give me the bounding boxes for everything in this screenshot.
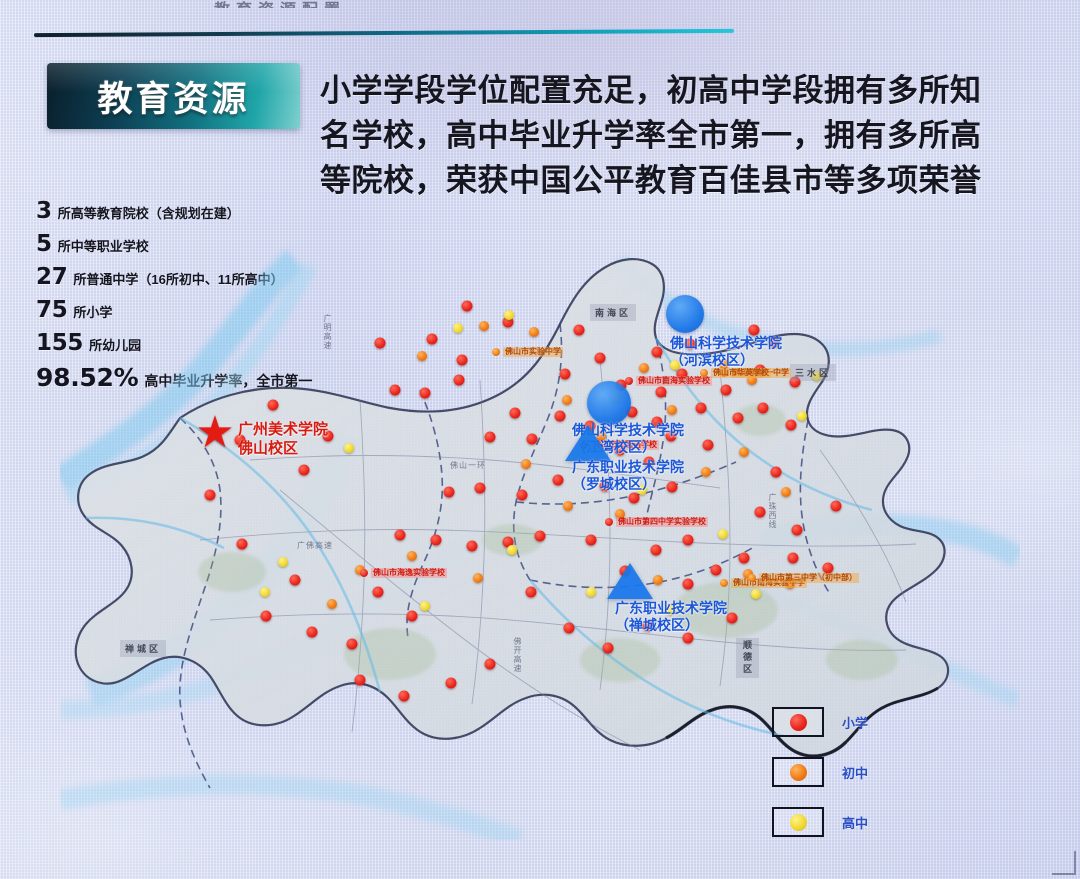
primary-school-dot [237, 539, 248, 550]
junior-school-dot [667, 405, 677, 415]
primary-school-dot [652, 347, 663, 358]
senior-school-dot [751, 589, 761, 599]
senior-school-dot [718, 529, 728, 539]
corner-mark [1052, 851, 1076, 875]
junior-school-dot [529, 327, 539, 337]
university-label: 广东职业技术学院（禅城校区） [615, 600, 727, 634]
primary-school-dot [771, 467, 782, 478]
primary-school-dot [564, 623, 575, 634]
legend-label: 小学 [842, 713, 868, 732]
senior-school-dot [278, 557, 288, 567]
junior-school-dot [479, 321, 489, 331]
school-name-label: 佛山市实验中学 [492, 347, 563, 357]
primary-school-dot [485, 659, 496, 670]
senior-school-dot [507, 545, 517, 555]
road-label: 广珠西线 [767, 493, 778, 529]
primary-school-dot [560, 369, 571, 380]
university-label-line: 佛山科学技术学院 [670, 335, 782, 352]
stat-number: 3 [36, 198, 52, 224]
primary-school-dot [444, 487, 455, 498]
district-name-plate: 南海区 [590, 304, 636, 321]
university-label: 广州美术学院佛山校区 [238, 420, 328, 458]
district-name-plate: 顺德区 [736, 638, 759, 678]
primary-school-dot [427, 334, 438, 345]
primary-school-dot [261, 611, 272, 622]
school-label-text: 佛山市第四中学实验学校 [616, 517, 708, 527]
junior-school-dot [521, 459, 531, 469]
primary-school-dot [307, 627, 318, 638]
university-label-line: 广东职业技术学院 [615, 600, 727, 617]
top-cropped-text: 教育资源配置 [214, 0, 514, 8]
junior-school-dot [701, 467, 711, 477]
university-label: 广东职业技术学院（罗城校区） [572, 459, 684, 493]
legend-swatch-box [772, 807, 824, 837]
senior-school-dot [453, 323, 463, 333]
primary-school-dot [526, 587, 537, 598]
junior-school-dot [473, 573, 483, 583]
junior-school-dot [639, 363, 649, 373]
primary-school-dot [454, 375, 465, 386]
primary-school-dot [696, 403, 707, 414]
stat-unit: 所高等教育院校（含规划在建） [58, 203, 240, 222]
primary-school-dot [823, 563, 834, 574]
primary-school-dot [205, 490, 216, 501]
junior-school-dot [417, 351, 427, 361]
primary-school-dot [656, 387, 667, 398]
legend-label: 高中 [842, 813, 868, 832]
primary-school-dot [373, 587, 384, 598]
headline-line-1: 小学学段学位配置充足，初高中学段拥有多所知 [320, 68, 1062, 113]
university-triangle-marker [607, 563, 653, 599]
legend-swatch-box [772, 707, 824, 737]
primary-school-dot [457, 355, 468, 366]
stat-number: 5 [36, 231, 52, 257]
school-label-text: 佛山市第三中学（初中部） [759, 573, 859, 583]
junior-school-dot [407, 551, 417, 561]
primary-school-dot [299, 465, 310, 476]
primary-school-dot [574, 325, 585, 336]
district-name-plate: 三水区 [790, 364, 836, 381]
badge-shine [47, 63, 300, 92]
university-circle-marker [587, 381, 631, 425]
primary-school-dot [510, 408, 521, 419]
university-label-line: 广州美术学院 [238, 420, 328, 439]
university-triangle-marker [565, 425, 611, 461]
university-label-line: （河滨校区） [670, 352, 782, 369]
primary-school-dot [792, 525, 803, 536]
school-label-dot [492, 348, 500, 356]
legend-row: 初中 [772, 757, 947, 787]
legend-swatch-box [772, 757, 824, 787]
stat-row: 3所高等教育院校（含规划在建） [36, 198, 376, 224]
legend-row: 小学 [772, 707, 947, 737]
primary-school-dot [758, 403, 769, 414]
primary-school-dot [485, 432, 496, 443]
primary-school-dot [555, 411, 566, 422]
university-label-line: （罗城校区） [572, 476, 684, 493]
primary-school-dot [290, 575, 301, 586]
primary-school-dot [711, 565, 722, 576]
school-name-label: 佛山市南海实验学校 [625, 376, 712, 386]
senior-school-dot [504, 310, 514, 320]
legend-label: 初中 [842, 763, 868, 782]
school-name-label: 佛山市第三中学（初中部） [748, 573, 859, 583]
primary-school-dot [721, 385, 732, 396]
school-label-text: 佛山市华英学校 [711, 368, 771, 378]
primary-school-dot [462, 301, 473, 312]
road-label: 佛开高速 [512, 637, 523, 673]
school-name-label: 佛山市海逸实验学校 [360, 568, 447, 578]
junior-school-dot [781, 487, 791, 497]
primary-school-dot [629, 493, 640, 504]
senior-school-dot [790, 814, 807, 831]
headline: 小学学段学位配置充足，初高中学段拥有多所知 名学校，高中毕业升学率全市第一，拥有… [320, 68, 1062, 203]
university-label-line: 广东职业技术学院 [572, 459, 684, 476]
primary-school-dot [703, 440, 714, 451]
university-label: 佛山科学技术学院（河滨校区） [670, 335, 782, 369]
primary-school-dot [407, 611, 418, 622]
district-name-plate: 禅城区 [120, 640, 166, 657]
primary-school-dot [755, 507, 766, 518]
junior-school-dot [562, 395, 572, 405]
primary-school-dot [683, 535, 694, 546]
school-label-dot [720, 579, 728, 587]
primary-school-dot [786, 420, 797, 431]
primary-school-dot [390, 385, 401, 396]
junior-school-dot [327, 599, 337, 609]
map-legend: 小学初中高中 [772, 707, 947, 857]
primary-school-dot [595, 353, 606, 364]
senior-school-dot [797, 411, 807, 421]
university-circle-marker [666, 295, 704, 333]
headline-line-3: 等院校，荣获中国公平教育百佳县市等多项荣誉 [320, 158, 1062, 203]
primary-school-dot [268, 400, 279, 411]
primary-school-dot [446, 678, 457, 689]
school-label-text: 佛山市海逸实验学校 [371, 568, 447, 578]
primary-school-dot [683, 579, 694, 590]
school-name-label: 佛山市华英学校 [700, 368, 771, 378]
university-label-line: （禅城校区） [615, 617, 727, 634]
junior-school-dot [790, 764, 807, 781]
primary-school-dot [683, 633, 694, 644]
primary-school-dot [527, 434, 538, 445]
primary-school-dot [355, 675, 366, 686]
primary-school-dot [586, 535, 597, 546]
junior-school-dot [739, 447, 749, 457]
school-label-text: 佛山市实验中学 [503, 347, 563, 357]
primary-school-dot [420, 388, 431, 399]
primary-school-dot [467, 541, 478, 552]
university-label-line: 佛山校区 [238, 439, 328, 458]
primary-school-dot [790, 714, 807, 731]
university-star-marker: ★ [195, 411, 234, 455]
primary-school-dot [739, 553, 750, 564]
primary-school-dot [475, 483, 486, 494]
primary-school-dot [603, 643, 614, 654]
primary-school-dot [431, 535, 442, 546]
section-title-badge: 教育资源 [47, 63, 300, 129]
school-label-dot [360, 569, 368, 577]
primary-school-dot [749, 325, 760, 336]
senior-school-dot [586, 587, 596, 597]
junior-school-dot [563, 501, 573, 511]
primary-school-dot [831, 501, 842, 512]
legend-row: 高中 [772, 807, 947, 837]
school-label-dot [748, 574, 756, 582]
road-label: 广佛高速 [297, 540, 333, 551]
primary-school-dot [399, 691, 410, 702]
school-name-label: 佛山市第四中学实验学校 [605, 517, 708, 527]
primary-school-dot [733, 413, 744, 424]
primary-school-dot [651, 545, 662, 556]
senior-school-dot [344, 443, 354, 453]
headline-line-2: 名学校，高中毕业升学率全市第一，拥有多所高 [320, 113, 1062, 158]
primary-school-dot [788, 553, 799, 564]
primary-school-dot [347, 639, 358, 650]
junior-school-dot [653, 575, 663, 585]
primary-school-dot [517, 490, 528, 501]
primary-school-dot [535, 531, 546, 542]
road-label: 佛山一环 [450, 460, 486, 471]
primary-school-dot [375, 338, 386, 349]
primary-school-dot [727, 613, 738, 624]
school-label-dot [625, 377, 633, 385]
school-label-dot [700, 369, 708, 377]
senior-school-dot [420, 601, 430, 611]
senior-school-dot [260, 587, 270, 597]
primary-school-dot [553, 475, 564, 486]
primary-school-dot [395, 530, 406, 541]
road-label: 广明高速 [322, 314, 333, 350]
school-label-dot [605, 518, 613, 526]
